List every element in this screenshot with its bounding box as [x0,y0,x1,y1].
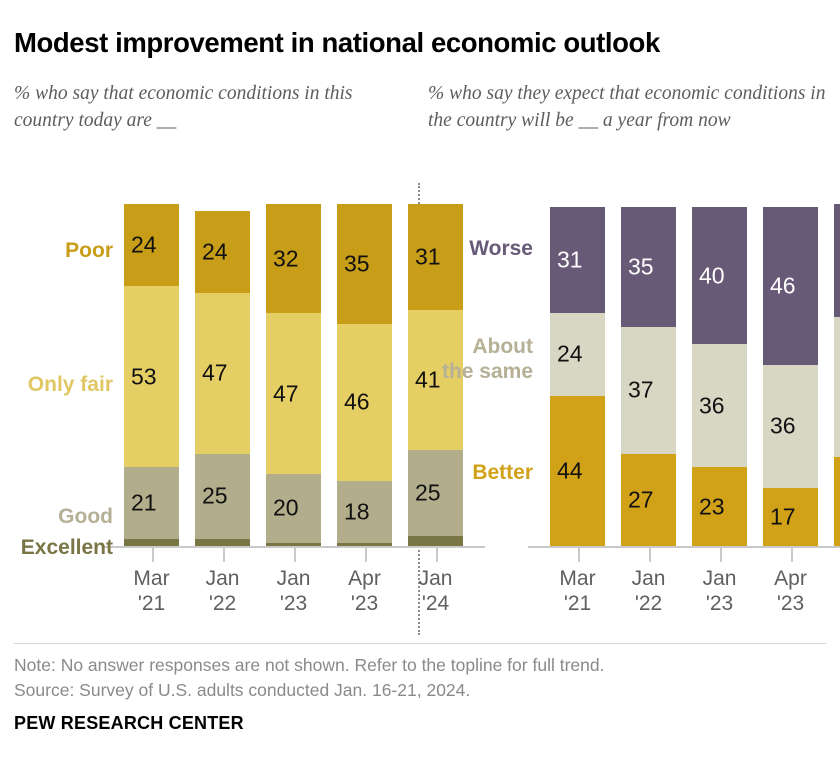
bar-value-label: 24 [131,234,157,257]
x-axis-label-line: Apr [751,566,830,591]
bar-value-label: 27 [628,488,654,511]
x-axis-label: Apr'23 [325,566,404,616]
category-label-good: Good [0,504,113,529]
category-label-poor: Poor [0,238,113,263]
x-axis-tick [294,548,296,562]
bar-value-label: 31 [557,249,583,272]
x-axis-label: Apr'23 [751,566,830,616]
subtitle-right: % who say they expect that economic cond… [428,80,828,134]
bar-value-label: 35 [628,256,654,279]
bar-segment-about-the-same[interactable]: 24 [550,313,605,395]
bar-segment-good[interactable]: 18 [337,481,392,543]
x-axis-label-line: '22 [183,591,262,616]
x-axis-tick [223,548,225,562]
x-axis-label-line: '23 [254,591,333,616]
category-label-only-fair: Only fair [0,372,113,397]
bar-value-label: 35 [344,252,370,275]
bar-segment-better[interactable]: 26 [834,457,840,546]
x-axis-tick [152,548,154,562]
bar-segment-worse[interactable]: 46 [763,207,818,364]
bar-value-label: 46 [770,275,796,298]
x-axis-label-line: Jan [680,566,759,591]
bar-segment-worse[interactable]: 31 [550,207,605,313]
x-axis-label: Jan'23 [254,566,333,616]
bar-segment-poor[interactable]: 24 [195,211,250,293]
x-axis-label: Jan'22 [609,566,688,616]
bar-value-label: 47 [202,362,228,385]
stacked-bar[interactable]: 463617 [763,207,818,546]
x-axis-label-line: Jan [822,566,840,591]
bar-segment-only-fair[interactable]: 46 [337,324,392,481]
bar-value-label: 23 [699,495,725,518]
bar-segment-poor[interactable]: 32 [266,204,321,313]
bar-segment-only-fair[interactable]: 53 [124,286,179,467]
x-axis-label-line: Jan [254,566,333,591]
bar-value-label: 36 [699,394,725,417]
x-axis-label-line: '22 [609,591,688,616]
bar-value-label: 44 [557,459,583,482]
bar-segment-good[interactable]: 25 [195,454,250,540]
x-axis-label: Mar'21 [538,566,617,616]
plot-area-left: 2453212Mar'212447252Jan'223247201Jan'233… [0,186,412,558]
bar-segment-worse[interactable]: 40 [692,207,747,344]
bar-segment-better[interactable]: 17 [763,488,818,546]
stacked-bar[interactable]: 334126 [834,204,840,546]
bar-segment-good[interactable]: 21 [124,467,179,539]
bar-value-label: 40 [699,264,725,287]
bar-segment-about-the-same[interactable]: 36 [763,365,818,488]
bar-segment-poor[interactable]: 24 [124,204,179,286]
bar-segment-worse[interactable]: 33 [834,204,840,317]
bar-segment-only-fair[interactable]: 47 [195,293,250,454]
note-line-2: Source: Survey of U.S. adults conducted … [14,678,826,703]
bar-segment-better[interactable]: 23 [692,467,747,546]
x-axis-label: Mar'21 [112,566,191,616]
page-title: Modest improvement in national economic … [14,28,826,59]
chart-future-conditions: 312444Mar'21353727Jan'22403623Jan'234636… [428,186,840,626]
stacked-bar[interactable]: 3546181 [337,204,392,546]
x-axis-label: Jan'24 [822,566,840,616]
bar-value-label: 21 [131,492,157,515]
bar-segment-excellent[interactable]: 1 [337,543,392,546]
chart-current-conditions: 2453212Mar'212447252Jan'223247201Jan'233… [0,186,412,626]
x-axis-label-line: '23 [751,591,830,616]
bar-value-label: 20 [273,497,299,520]
x-axis-label-line: Mar [112,566,191,591]
bar-segment-better[interactable]: 27 [621,454,676,546]
category-label-about-the-same: About the same [428,334,533,384]
x-axis-label-line: Jan [609,566,688,591]
category-label-excellent: Excellent [0,535,113,560]
x-axis-line [528,546,840,548]
footer-note: Note: No answer responses are not shown.… [14,653,826,703]
bar-segment-about-the-same[interactable]: 37 [621,327,676,454]
x-axis-tick [365,548,367,562]
bar-value-label: 46 [344,391,370,414]
category-label-better: Better [428,460,533,485]
bar-value-label: 37 [628,379,654,402]
bar-segment-poor[interactable]: 35 [337,204,392,324]
bar-segment-excellent[interactable]: 2 [195,539,250,546]
brand-label: PEW RESEARCH CENTER [14,713,244,734]
bar-segment-only-fair[interactable]: 47 [266,313,321,474]
bar-value-label: 47 [273,382,299,405]
chart-page: Modest improvement in national economic … [0,0,840,774]
x-axis-label-line: Apr [325,566,404,591]
stacked-bar[interactable]: 353727 [621,207,676,546]
bar-segment-about-the-same[interactable]: 36 [692,344,747,467]
x-axis-label-line: '23 [680,591,759,616]
x-axis-label: Jan'22 [183,566,262,616]
bar-value-label: 53 [131,365,157,388]
bar-value-label: 18 [344,500,370,523]
x-axis-label-line: '24 [822,591,840,616]
bar-segment-worse[interactable]: 35 [621,207,676,327]
bar-value-label: 36 [770,415,796,438]
x-axis-label-line: '23 [325,591,404,616]
note-line-1: Note: No answer responses are not shown.… [14,653,826,678]
category-label-worse: Worse [428,236,533,261]
bar-segment-excellent[interactable]: 1 [266,543,321,546]
x-axis-label-line: Mar [538,566,617,591]
plot-area-right: 312444Mar'21353727Jan'22403623Jan'234636… [428,186,840,558]
stacked-bar[interactable]: 2447252 [195,211,250,546]
x-axis-tick [649,548,651,562]
bar-segment-excellent[interactable]: 2 [124,539,179,546]
bar-value-label: 25 [202,485,228,508]
bar-segment-good[interactable]: 20 [266,474,321,542]
x-axis-label-line: '21 [112,591,191,616]
x-axis-tick [791,548,793,562]
stacked-bar[interactable]: 312444 [550,207,605,546]
footer-divider [14,643,826,644]
subtitle-left: % who say that economic conditions in th… [14,80,414,134]
bar-value-label: 17 [770,505,796,528]
stacked-bar[interactable]: 3247201 [266,204,321,546]
x-axis-tick [578,548,580,562]
x-axis-label: Jan'23 [680,566,759,616]
stacked-bar[interactable]: 2453212 [124,204,179,546]
bar-segment-better[interactable]: 44 [550,396,605,546]
bar-value-label: 32 [273,247,299,270]
bar-segment-about-the-same[interactable]: 41 [834,317,840,457]
stacked-bar[interactable]: 403623 [692,207,747,546]
bar-value-label: 24 [202,240,228,263]
x-axis-tick [720,548,722,562]
bar-value-label: 24 [557,343,583,366]
x-axis-label-line: '21 [538,591,617,616]
x-axis-label-line: Jan [183,566,262,591]
